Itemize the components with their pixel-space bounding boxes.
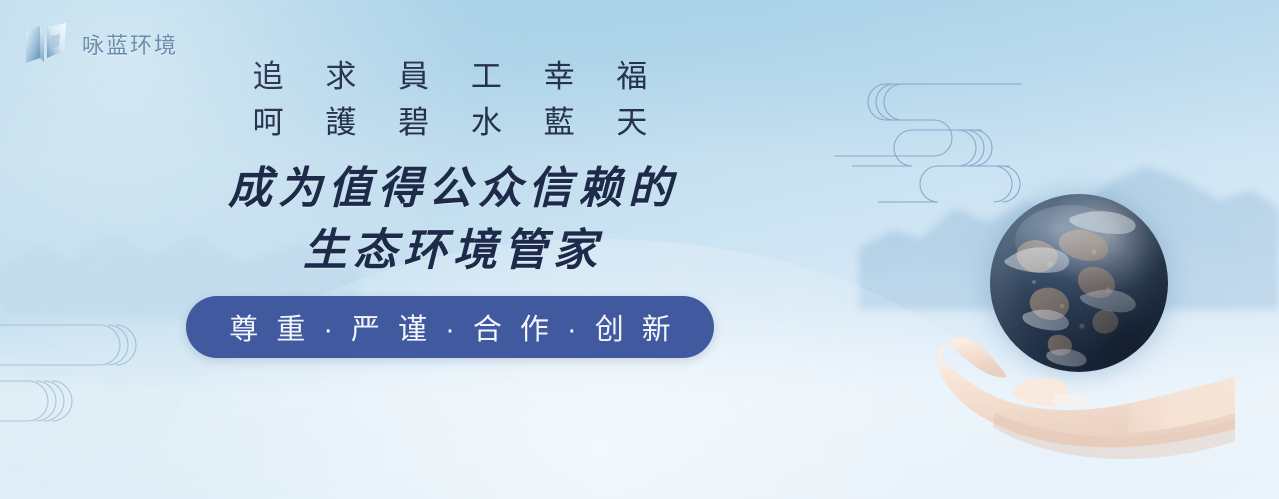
- earth-globe-icon: [990, 194, 1168, 372]
- globe-continents-icon: [990, 194, 1168, 372]
- globe-in-hand-artwork: [935, 176, 1235, 499]
- open-palm-hand-icon: [935, 321, 1235, 499]
- tagline-line-1: 追 求 員 工 幸 福: [0, 54, 900, 100]
- globe-highlight: [1015, 205, 1125, 276]
- values-pill-container: 尊 重 · 严 谨 · 合 作 · 创 新: [0, 296, 900, 358]
- hero-copy-block: 追 求 員 工 幸 福 呵 護 碧 水 藍 天 成为值得公众信赖的 生态环境管家…: [0, 54, 900, 358]
- globe-shadow: [990, 194, 1168, 372]
- core-values-pill[interactable]: 尊 重 · 严 谨 · 合 作 · 创 新: [186, 296, 714, 358]
- headline-line-2: 生态环境管家: [0, 220, 900, 282]
- distant-mountain-silhouette-icon: [859, 80, 1279, 310]
- tagline-line-2: 呵 護 碧 水 藍 天: [0, 100, 900, 146]
- headline-line-1: 成为值得公众信赖的: [0, 158, 900, 220]
- hero-banner: 咏蓝环境 追 求 員 工 幸 福 呵 護 碧 水 藍 天 成为值得公众信赖的 生…: [0, 0, 1279, 499]
- page-title: 成为值得公众信赖的 生态环境管家: [0, 158, 900, 282]
